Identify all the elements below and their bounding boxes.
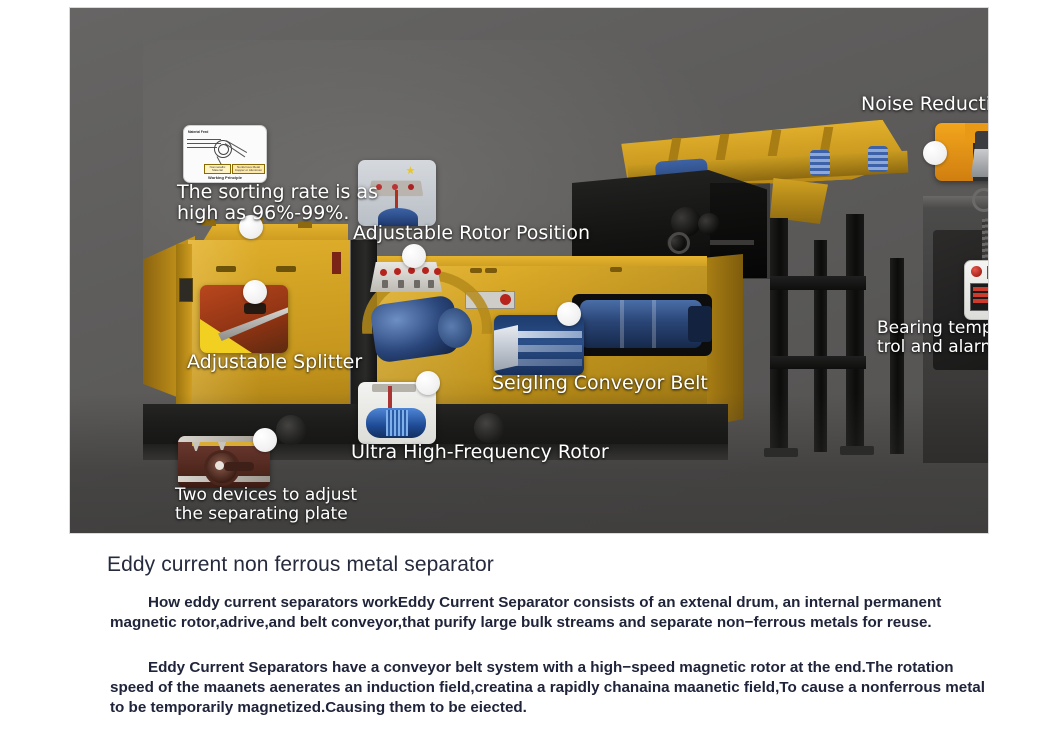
thumbnail-control-panel: ····· ····· xyxy=(964,260,988,320)
callout-label-ultra-high-frequency-rotor: Ultra High-Frequency Rotor xyxy=(351,442,609,463)
frame-crossbar xyxy=(770,276,866,290)
callout-label-two-devices-separating-plate: Two devices to adjust the separating pla… xyxy=(175,486,357,524)
adjust-indicator xyxy=(434,268,441,275)
product-detail-page: Material Feed NonmetallicMaterial Nonfer… xyxy=(0,0,1059,737)
adjust-slot xyxy=(414,280,420,288)
cabinet-louver-vent xyxy=(982,213,988,261)
adjust-slot xyxy=(398,280,404,288)
gearbox-cap xyxy=(688,306,712,342)
body-bolt xyxy=(470,268,482,273)
callout-label-seigling-conveyor-belt: Seigling Conveyor Belt xyxy=(492,373,708,394)
principle-material-feed: Material Feed xyxy=(188,130,208,134)
gearbox-motor xyxy=(580,300,702,348)
hood-latch xyxy=(332,252,341,274)
emergency-stop-icon xyxy=(971,266,982,277)
callout-dot-two-devices-separating-plate[interactable] xyxy=(253,428,277,452)
callout-dot-ultra-high-frequency-rotor[interactable] xyxy=(416,371,440,395)
callout-label-noise-reduction-design: Noise Reduction Design xyxy=(861,94,988,115)
principle-nonferrous: Nonferrous MetalCopper or Aluminum xyxy=(232,164,265,174)
adjust-indicator xyxy=(422,267,429,274)
callout-label-adjustable-rotor-position: Adjustable Rotor Position xyxy=(353,223,590,244)
feeder-spring xyxy=(810,150,830,176)
adjust-slot xyxy=(428,280,434,288)
adjust-slot xyxy=(382,280,388,288)
star-icon xyxy=(406,166,415,175)
frame-crossbar xyxy=(770,356,866,369)
hood-handle xyxy=(216,266,236,272)
thumbnail-working-principle: Material Feed NonmetallicMaterial Nonfer… xyxy=(183,125,267,183)
digital-display xyxy=(987,266,988,279)
product-photo: Material Feed NonmetallicMaterial Nonfer… xyxy=(70,8,988,533)
callout-label-sorting-rate: The sorting rate is as high as 96%-99%. xyxy=(177,182,378,225)
article-paragraph-1: How eddy current separators workEddy Cur… xyxy=(110,593,996,633)
page-title: Eddy current non ferrous metal separator xyxy=(107,553,494,577)
temperature-controller xyxy=(970,283,988,311)
body-bolt xyxy=(485,268,497,273)
callout-dot-seigling-conveyor-belt[interactable] xyxy=(557,302,581,326)
hood-handle xyxy=(276,266,296,272)
adjust-indicator xyxy=(394,268,401,275)
shaft xyxy=(710,240,754,245)
feeder-spring xyxy=(868,146,888,172)
hood-bevel xyxy=(176,244,192,412)
callout-dot-noise-reduction-design[interactable] xyxy=(923,141,947,165)
callout-dot-adjustable-rotor-position[interactable] xyxy=(402,244,426,268)
drive-gear xyxy=(698,213,720,235)
article-paragraph-2: Eddy Current Separators have a conveyor … xyxy=(110,658,996,717)
callout-label-bearing-temperature-control: Bearing temperature con- trol and alarm … xyxy=(877,319,988,357)
adjust-indicator xyxy=(380,269,387,276)
callout-label-adjustable-splitter: Adjustable Splitter xyxy=(187,352,362,373)
body-bolt xyxy=(610,267,622,272)
principle-caption: Working Principle xyxy=(208,175,242,180)
bearing-ring xyxy=(668,232,690,254)
hood-window xyxy=(179,278,193,302)
callout-dot-adjustable-splitter[interactable] xyxy=(243,280,267,304)
principle-nonmetallic: NonmetallicMaterial xyxy=(204,164,231,174)
adjust-indicator xyxy=(408,267,415,274)
